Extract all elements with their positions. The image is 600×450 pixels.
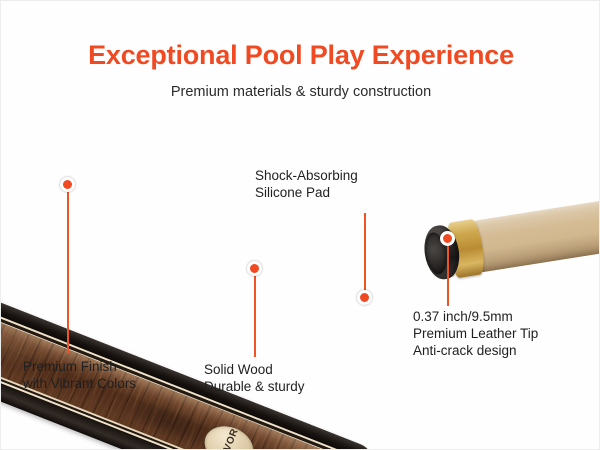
leader-line-premium-finish	[67, 191, 69, 353]
marker-dot-premium-finish[interactable]	[60, 177, 75, 192]
marker-dot-solid-wood[interactable]	[247, 261, 262, 276]
cue-body	[0, 254, 380, 450]
marker-dot-core	[63, 180, 72, 189]
vevor-logo-text: VEVOR	[217, 427, 241, 450]
marker-dot-core	[360, 293, 369, 302]
page-subtitle: Premium materials & sturdy construction	[1, 83, 600, 101]
callout-silicone-pad: Shock-Absorbing Silicone Pad	[255, 167, 358, 201]
marker-dot-silicone-pad[interactable]	[357, 290, 372, 305]
leader-line-solid-wood	[254, 275, 256, 357]
callout-solid-wood: Solid Wood Durable & sturdy	[204, 361, 305, 395]
shaft-shading	[472, 193, 600, 272]
callout-leather-tip: 0.37 inch/9.5mm Premium Leather Tip Anti…	[413, 308, 538, 359]
page-title: Exceptional Pool Play Experience	[1, 39, 600, 71]
infographic-page: Exceptional Pool Play Experience Premium…	[0, 0, 600, 450]
callout-premium-finish: Premium Finish with Vibrant Colors	[23, 358, 136, 392]
marker-dot-leather-tip[interactable]	[440, 231, 455, 246]
marker-dot-core	[250, 264, 259, 273]
ash-wood-shaft	[472, 193, 600, 272]
leader-line-leather-tip	[447, 244, 449, 306]
product-illustration: VEVOR	[1, 101, 600, 450]
pool-cue-butt: VEVOR	[0, 254, 380, 450]
marker-dot-core	[443, 234, 452, 243]
